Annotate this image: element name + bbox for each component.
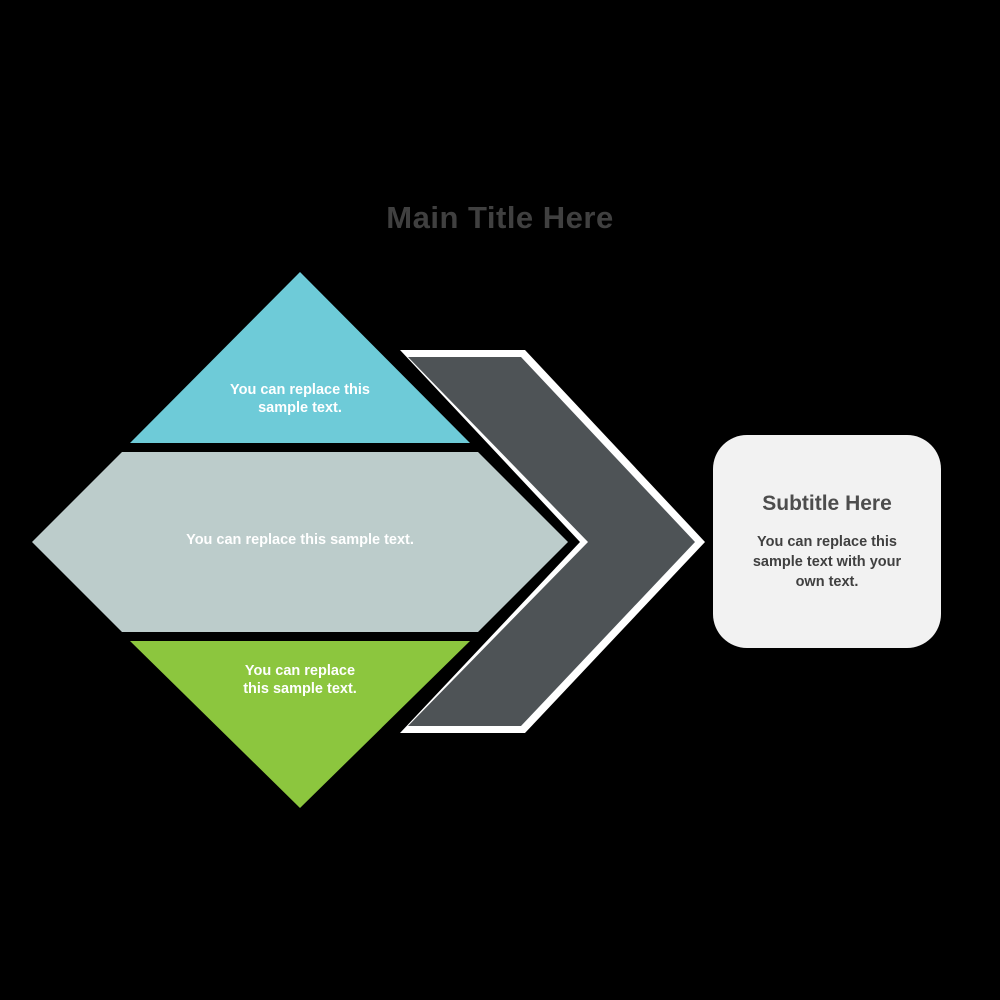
slide-canvas: Main Title Here You can replace this sam… bbox=[0, 0, 1000, 1000]
card-body-text: You can replace this sample text with yo… bbox=[753, 532, 901, 592]
bottom-triangle-label: You can replace this sample text. bbox=[185, 663, 415, 698]
middle-band-label: You can replace this sample text. bbox=[120, 532, 480, 550]
top-triangle-label: You can replace this sample text. bbox=[175, 382, 425, 417]
info-card[interactable]: Subtitle Here You can replace this sampl… bbox=[713, 435, 941, 648]
card-subtitle: Subtitle Here bbox=[762, 492, 892, 516]
